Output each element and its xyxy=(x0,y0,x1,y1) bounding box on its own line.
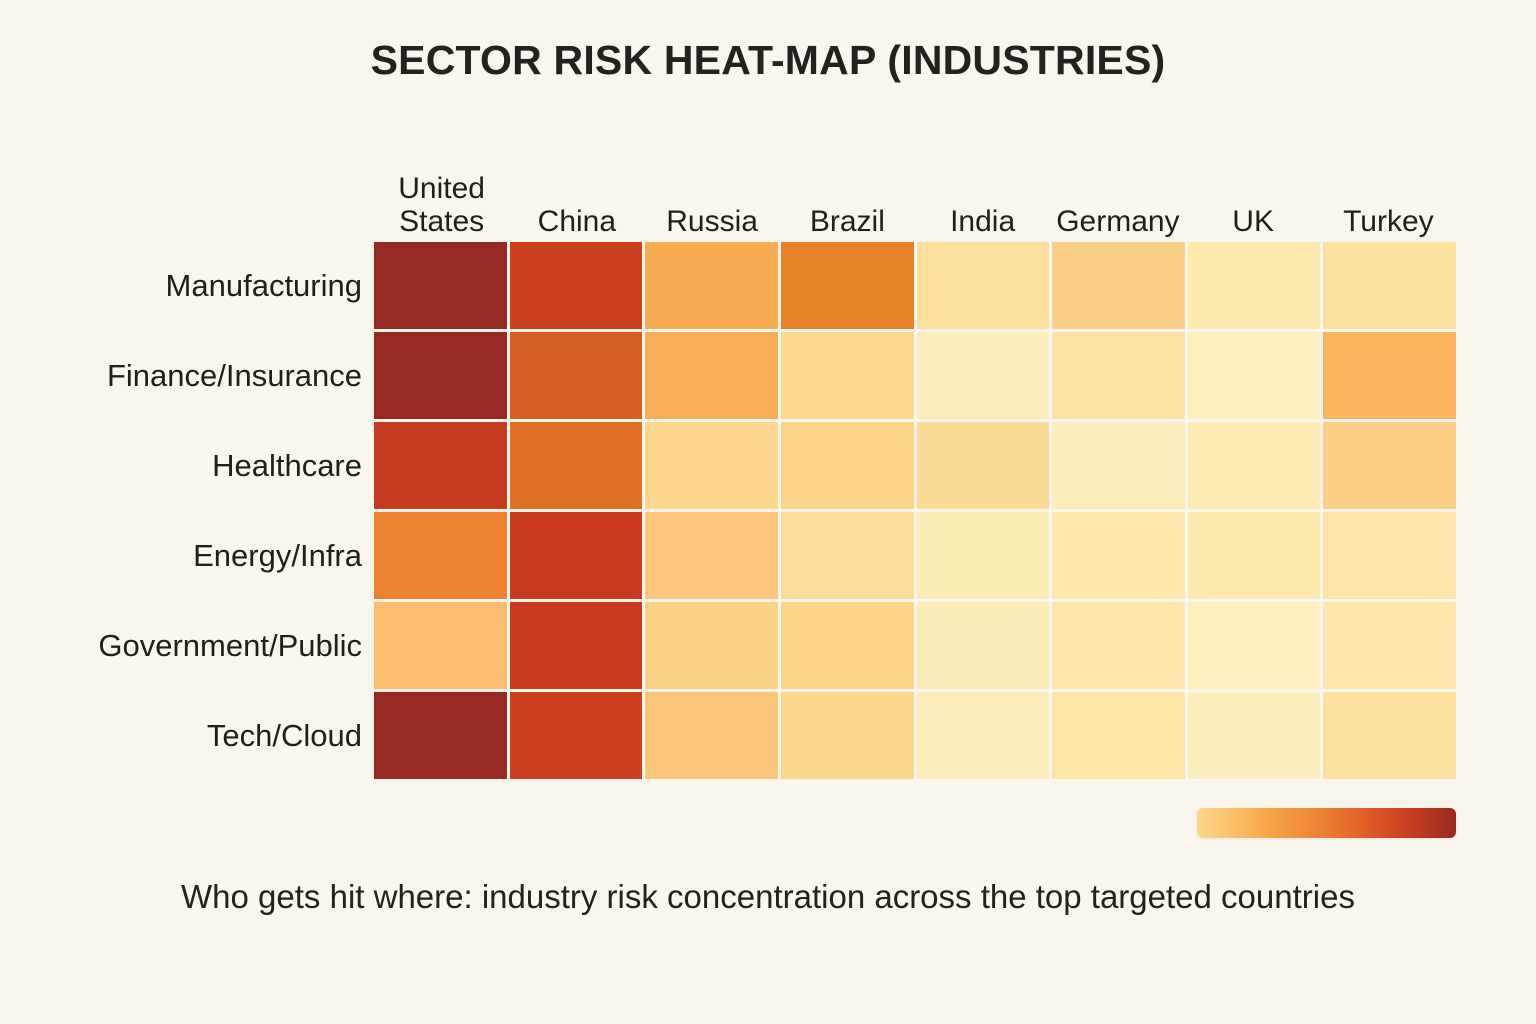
heatmap-cell[interactable] xyxy=(1188,242,1321,329)
heatmap-cell[interactable] xyxy=(1323,602,1456,689)
column-header-brazil: Brazil xyxy=(780,206,915,238)
heatmap-cell[interactable] xyxy=(645,332,778,419)
row-label-government-public: Government/Public xyxy=(98,602,362,689)
heatmap-cell[interactable] xyxy=(781,332,914,419)
row-label-healthcare: Healthcare xyxy=(212,422,362,509)
heatmap-cell[interactable] xyxy=(374,602,507,689)
heatmap-cell[interactable] xyxy=(917,422,1050,509)
column-header-russia: Russia xyxy=(645,206,780,238)
heatmap-cell[interactable] xyxy=(510,602,643,689)
heatmap-cell[interactable] xyxy=(645,692,778,779)
heatmap-cell[interactable] xyxy=(645,512,778,599)
page-title: SECTOR RISK HEAT-MAP (INDUSTRIES) xyxy=(0,38,1536,83)
column-header-china: China xyxy=(509,206,644,238)
heatmap-row: Manufacturing xyxy=(374,242,1456,329)
heatmap-cell[interactable] xyxy=(1052,692,1185,779)
color-scale-legend xyxy=(1197,808,1456,838)
column-header-turkey: Turkey xyxy=(1321,206,1456,238)
heatmap-cell[interactable] xyxy=(781,692,914,779)
heatmap-cell[interactable] xyxy=(917,602,1050,689)
heatmap-cell[interactable] xyxy=(645,602,778,689)
column-header-united-states: United States xyxy=(374,173,509,238)
heatmap-cell[interactable] xyxy=(510,332,643,419)
heatmap-cell[interactable] xyxy=(917,332,1050,419)
heatmap-cell[interactable] xyxy=(1188,512,1321,599)
heatmap-grid: ManufacturingFinance/InsuranceHealthcare… xyxy=(374,242,1456,779)
heatmap-cell[interactable] xyxy=(917,512,1050,599)
heatmap-cell[interactable] xyxy=(1188,692,1321,779)
row-label-finance-insurance: Finance/Insurance xyxy=(107,332,362,419)
heatmap-cell[interactable] xyxy=(781,602,914,689)
heatmap-chart: United States China Russia Brazil India … xyxy=(374,140,1456,779)
heatmap-cell[interactable] xyxy=(510,692,643,779)
heatmap-cell[interactable] xyxy=(510,512,643,599)
heatmap-cell[interactable] xyxy=(374,242,507,329)
heatmap-cell[interactable] xyxy=(781,422,914,509)
heatmap-cell[interactable] xyxy=(645,242,778,329)
row-label-tech-cloud: Tech/Cloud xyxy=(207,692,362,779)
heatmap-cell[interactable] xyxy=(510,242,643,329)
heatmap-cell[interactable] xyxy=(1323,242,1456,329)
heatmap-cell[interactable] xyxy=(374,512,507,599)
heatmap-cell[interactable] xyxy=(1323,422,1456,509)
heatmap-cell[interactable] xyxy=(374,422,507,509)
heatmap-row: Tech/Cloud xyxy=(374,692,1456,779)
column-header-uk: UK xyxy=(1186,206,1321,238)
heatmap-cell[interactable] xyxy=(1052,332,1185,419)
heatmap-cell[interactable] xyxy=(1052,602,1185,689)
heatmap-row: Government/Public xyxy=(374,602,1456,689)
column-header-row: United States China Russia Brazil India … xyxy=(374,140,1456,238)
chart-caption: Who gets hit where: industry risk concen… xyxy=(108,872,1428,922)
heatmap-row: Finance/Insurance xyxy=(374,332,1456,419)
heatmap-cell[interactable] xyxy=(917,692,1050,779)
heatmap-cell[interactable] xyxy=(1052,512,1185,599)
heatmap-cell[interactable] xyxy=(1052,422,1185,509)
row-label-manufacturing: Manufacturing xyxy=(166,242,362,329)
heatmap-cell[interactable] xyxy=(1188,602,1321,689)
heatmap-cell[interactable] xyxy=(1323,512,1456,599)
row-label-energy-infra: Energy/Infra xyxy=(193,512,362,599)
heatmap-cell[interactable] xyxy=(510,422,643,509)
heatmap-cell[interactable] xyxy=(645,422,778,509)
heatmap-cell[interactable] xyxy=(1188,422,1321,509)
heatmap-cell[interactable] xyxy=(917,242,1050,329)
column-header-germany: Germany xyxy=(1050,206,1185,238)
heatmap-cell[interactable] xyxy=(781,242,914,329)
heatmap-cell[interactable] xyxy=(1323,332,1456,419)
column-header-india: India xyxy=(915,206,1050,238)
heatmap-cell[interactable] xyxy=(1323,692,1456,779)
heatmap-cell[interactable] xyxy=(374,332,507,419)
heatmap-row: Energy/Infra xyxy=(374,512,1456,599)
heatmap-cell[interactable] xyxy=(1052,242,1185,329)
heatmap-cell[interactable] xyxy=(781,512,914,599)
heatmap-cell[interactable] xyxy=(374,692,507,779)
heatmap-row: Healthcare xyxy=(374,422,1456,509)
heatmap-cell[interactable] xyxy=(1188,332,1321,419)
